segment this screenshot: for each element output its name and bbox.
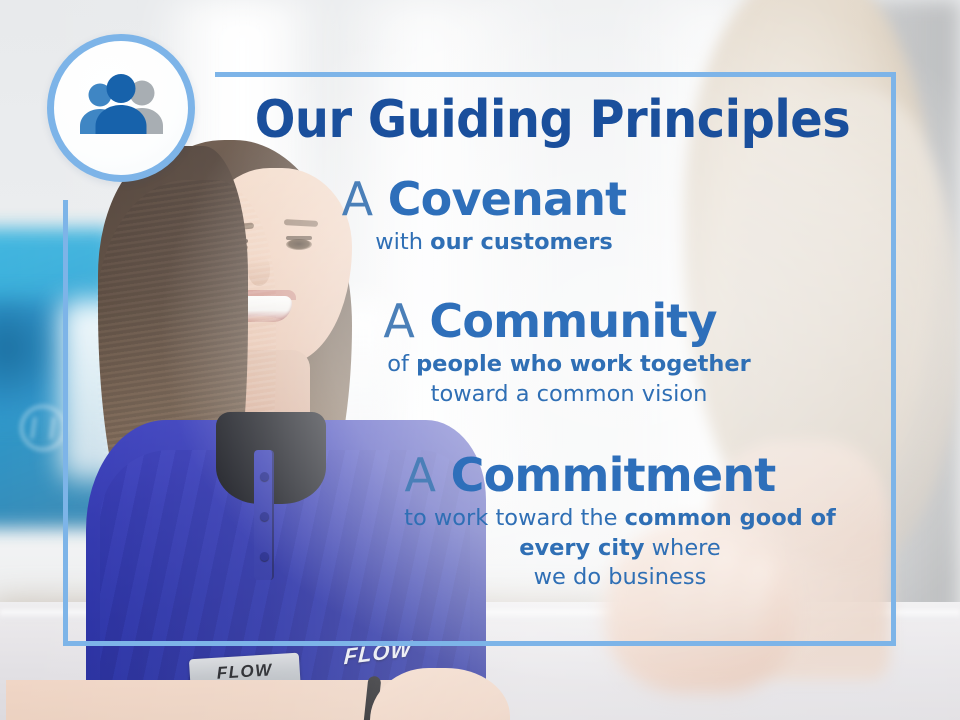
principle-subtitle: to work toward the common good of every …: [200, 504, 840, 593]
text-content: Our Guiding Principles A Covenant with o…: [200, 80, 900, 640]
principle-title: A Covenant: [200, 176, 840, 223]
principle-sub-prefix: to work toward the: [404, 505, 625, 531]
principle-community: A Community of people who work together …: [200, 298, 840, 409]
principle-sub-line2: toward a common vision: [298, 380, 840, 410]
page-title: Our Guiding Principles: [247, 94, 859, 146]
principle-subtitle: with our customers: [200, 228, 840, 258]
principle-word: Commitment: [451, 448, 776, 502]
principle-commitment: A Commitment to work toward the common g…: [200, 452, 840, 593]
principle-covenant: A Covenant with our customers: [200, 176, 840, 258]
principle-subtitle: of people who work together toward a com…: [200, 350, 840, 409]
principle-article: A: [383, 294, 414, 348]
principle-sub-bold: our customers: [430, 229, 613, 255]
principle-word: Community: [429, 294, 716, 348]
principle-sub-bold: people who work together: [416, 351, 751, 377]
principle-sub-prefix: with: [375, 229, 430, 255]
principle-sub-suffix: where: [645, 535, 721, 561]
marketing-graphic: FLOW AUTOMOTIVE FLOW: [0, 0, 960, 720]
principle-sub-line2: we do business: [400, 563, 840, 593]
name-badge-brand: FLOW: [216, 661, 273, 681]
principle-word: Covenant: [388, 172, 627, 226]
principle-title: A Community: [200, 298, 840, 345]
principle-title: A Commitment: [200, 452, 840, 499]
principle-article: A: [405, 448, 436, 502]
principle-article: A: [342, 172, 373, 226]
people-group-badge: [47, 34, 195, 182]
people-group-icon: [69, 73, 173, 143]
principle-sub-prefix: of: [387, 351, 416, 377]
